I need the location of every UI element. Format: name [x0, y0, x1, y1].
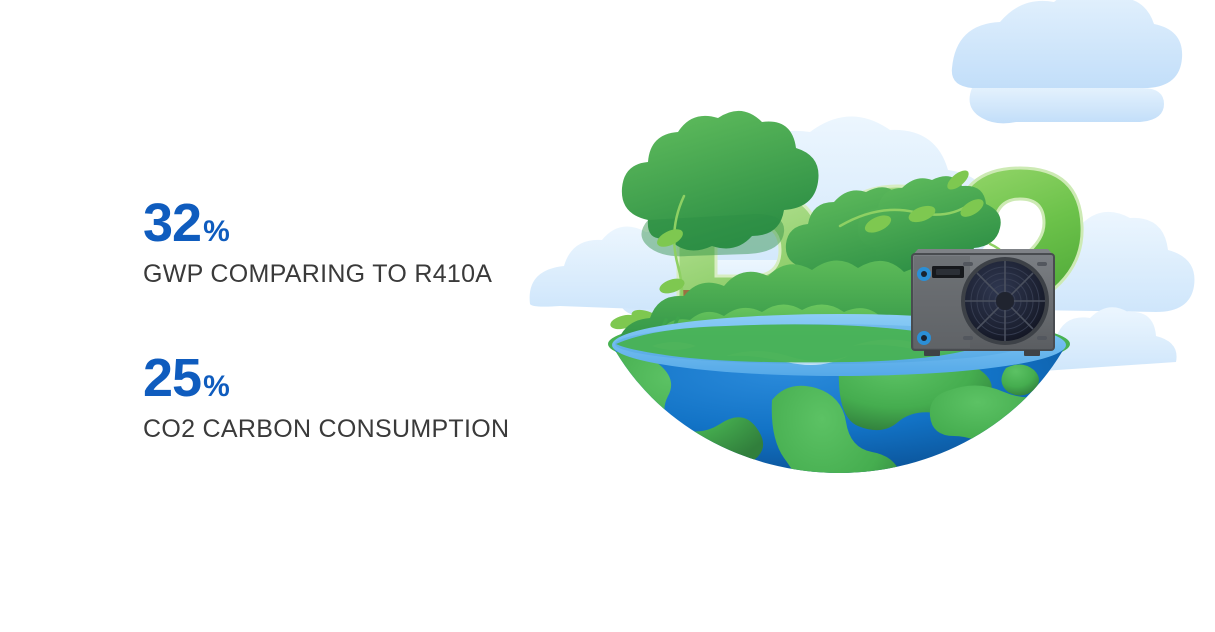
pump-port-center — [921, 335, 927, 341]
pump-foot — [1024, 350, 1040, 356]
stat-label-gwp: GWP COMPARING TO R410A — [143, 260, 573, 289]
pump-display-screen — [936, 269, 960, 275]
pump-fan-grille — [961, 257, 1049, 345]
stat-number-co2: 25 — [143, 351, 201, 405]
stat-label-co2: CO2 CARBON CONSUMPTION — [143, 415, 573, 444]
stats-panel: 32 % GWP COMPARING TO R410A 25 % CO2 CAR… — [143, 196, 573, 444]
heat-pump-unit — [912, 249, 1054, 356]
stat-percent-symbol-co2: % — [203, 372, 230, 402]
fan-hub — [996, 292, 1014, 310]
stat-percent-symbol-gwp: % — [203, 217, 230, 247]
stat-block-co2: 25 % CO2 CARBON CONSUMPTION — [143, 351, 573, 444]
eco-globe-illustration — [520, 0, 1215, 632]
stat-value-row-co2: 25 % — [143, 351, 573, 405]
cloud-top-right — [952, 0, 1182, 123]
pump-port-center — [921, 271, 927, 277]
stat-number-gwp: 32 — [143, 196, 201, 250]
stat-block-gwp: 32 % GWP COMPARING TO R410A — [143, 196, 573, 289]
pump-foot — [924, 350, 940, 356]
stat-value-row-gwp: 32 % — [143, 196, 573, 250]
